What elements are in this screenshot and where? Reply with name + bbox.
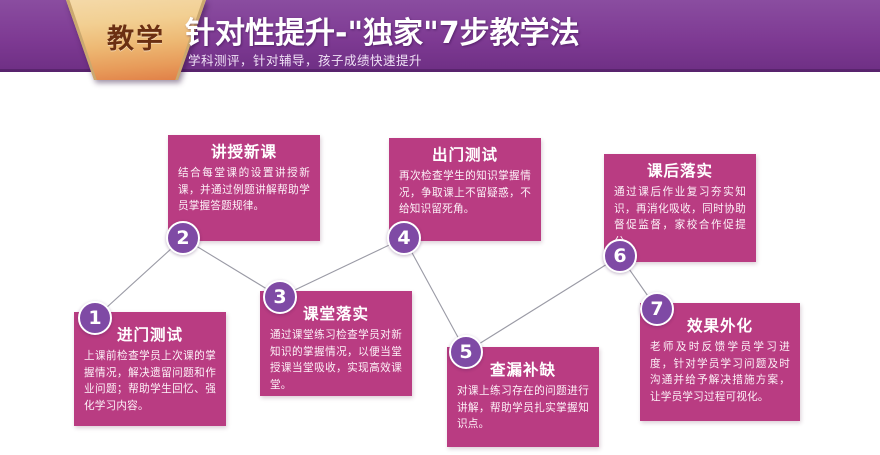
connector-1-2 [95, 238, 183, 318]
step-card-1-body: 上课前检查学员上次课的掌握情况，解决遗留问题和作业问题；帮助学生回忆、强化学习内… [84, 348, 216, 414]
connector-4-5 [404, 238, 466, 352]
step-card-2-body: 结合每堂课的设置讲授新课，并通过例题讲解帮助学员掌握答题规律。 [178, 165, 310, 214]
slide-canvas: 教学 针对性提升-"独家"7步教学法 学科测评，针对辅导，孩子成绩快速提升 讲授… [0, 0, 880, 455]
step-card-6-title: 课后落实 [614, 160, 746, 182]
step-circle-5[interactable]: 5 [449, 335, 483, 369]
step-card-3-body: 通过课堂练习检查学员对新知识的掌握情况，以便当堂授课当堂吸收，实现高效课堂。 [270, 327, 402, 393]
step-card-2-title: 讲授新课 [178, 141, 310, 163]
step-circle-3[interactable]: 3 [263, 280, 297, 314]
step-circle-7[interactable]: 7 [640, 292, 674, 326]
step-circle-2[interactable]: 2 [166, 221, 200, 255]
connector-3-4 [280, 238, 404, 297]
step-circle-1[interactable]: 1 [78, 301, 112, 335]
step-card-6-body: 通过课后作业复习夯实知识，再消化吸收，同时协助督促监督，家校合作促提分。 [614, 184, 746, 250]
step-card-5-body: 对课上练习存在的问题进行讲解，帮助学员扎实掌握知识点。 [457, 383, 589, 432]
step-circle-4[interactable]: 4 [387, 221, 421, 255]
step-card-4-body: 再次检查学生的知识掌握情况，争取课上不留疑惑，不给知识留死角。 [399, 168, 531, 217]
step-card-7-body: 老师及时反馈学员学习进度，针对学员学习问题及时沟通并给予解决措施方案，让学员学习… [650, 339, 790, 405]
page-subtitle: 学科测评，针对辅导，孩子成绩快速提升 [188, 50, 422, 69]
step-circle-6[interactable]: 6 [603, 239, 637, 273]
connector-5-6 [466, 256, 620, 352]
page-title: 针对性提升-"独家"7步教学法 [185, 8, 580, 52]
step-card-4-title: 出门测试 [399, 144, 531, 166]
